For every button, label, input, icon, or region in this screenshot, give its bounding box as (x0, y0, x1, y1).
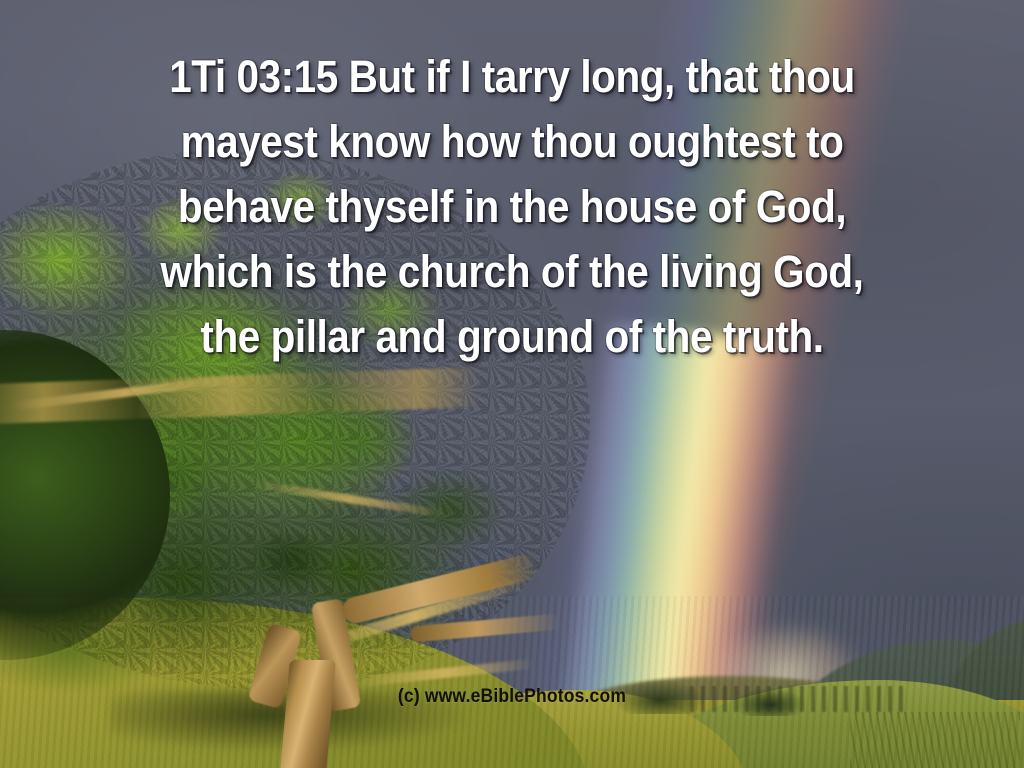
verse-line-5: the pillar and ground of the truth. (93, 304, 932, 369)
verse-line-2: mayest know how thou oughtest to (93, 109, 932, 174)
verse-line-4: which is the church of the living God, (93, 239, 932, 304)
scripture-image: 1Ti 03:15 But if I tarry long, that thou… (0, 0, 1024, 768)
watermark: (c) www.eBiblePhotos.com (0, 686, 1024, 708)
verse-line-3: behave thyself in the house of God, (93, 174, 932, 239)
watermark-text: (c) www.eBiblePhotos.com (398, 686, 626, 708)
grass-tufts (850, 712, 1020, 768)
scripture-verse-overlay: 1Ti 03:15 But if I tarry long, that thou… (0, 44, 1024, 369)
verse-line-1: 1Ti 03:15 But if I tarry long, that thou (93, 44, 932, 109)
tree-trunk (280, 660, 336, 768)
